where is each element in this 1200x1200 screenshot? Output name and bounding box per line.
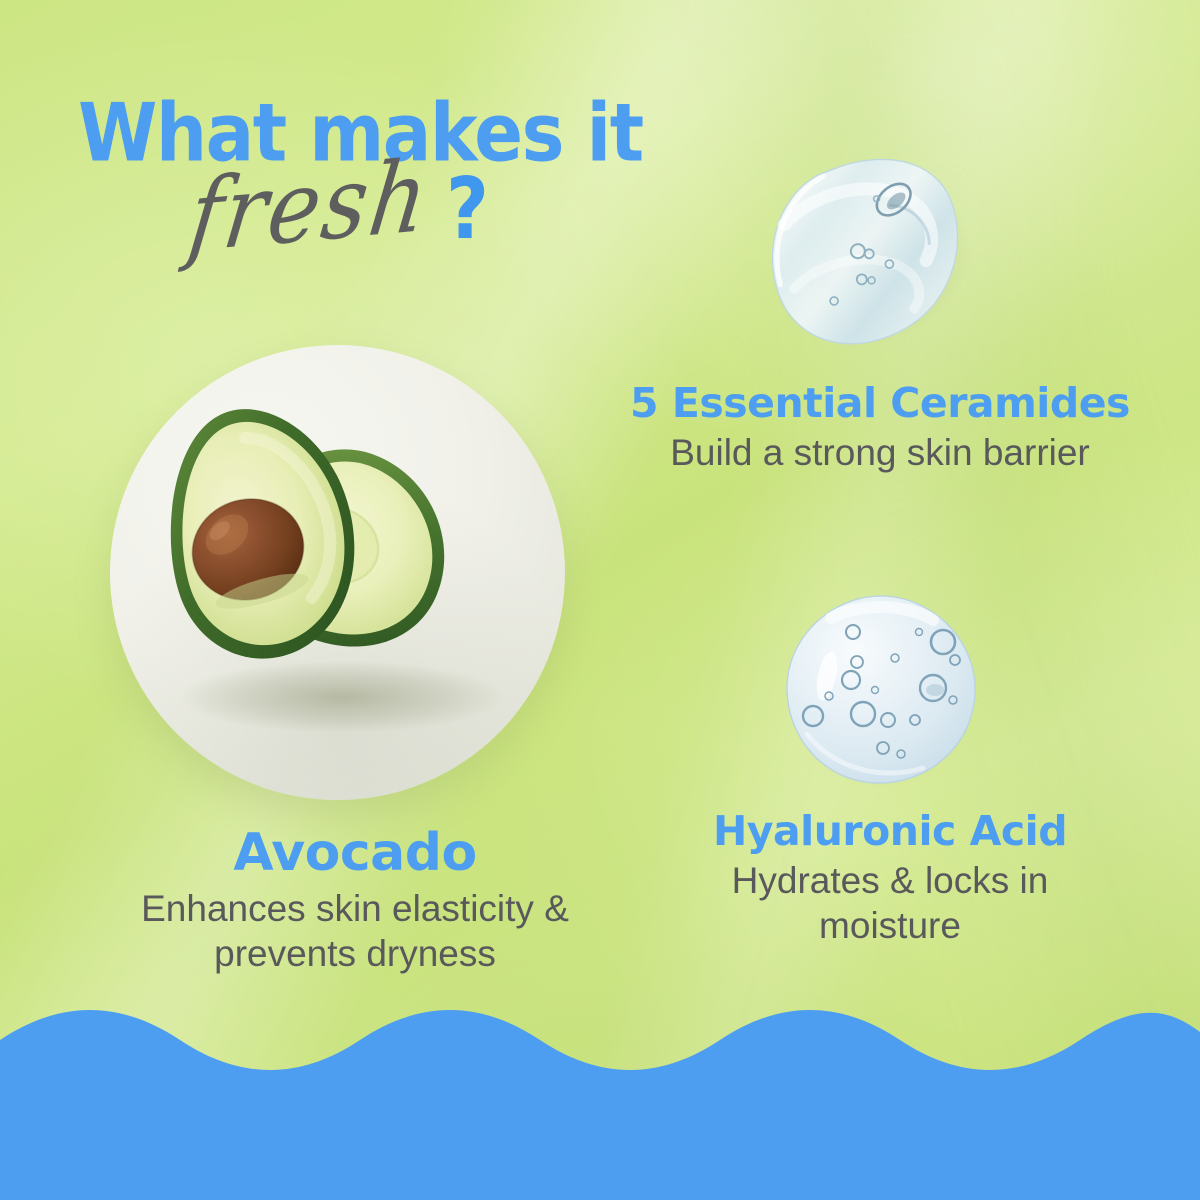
headline-script-row: fresh ? xyxy=(78,170,698,280)
hyaluronic-title: Hyaluronic Acid xyxy=(660,810,1120,853)
ingredient-block-hyaluronic: Hyaluronic Acid Hydrates & locks in mois… xyxy=(660,810,1120,948)
ingredient-block-avocado: Avocado Enhances skin elasticity & preve… xyxy=(55,826,655,976)
avocado-illustration xyxy=(110,345,565,800)
ceramide-gel-blob xyxy=(752,152,984,348)
headline-question-mark: ? xyxy=(446,160,489,259)
headline: What makes it fresh ? xyxy=(78,92,698,280)
ceramides-subtitle: Build a strong skin barrier xyxy=(590,431,1170,475)
avocado-title: Avocado xyxy=(55,826,655,881)
hyaluronic-subtitle-line-1: Hydrates & locks in xyxy=(660,859,1120,903)
ceramides-title: 5 Essential Ceramides xyxy=(590,382,1170,425)
bottom-wave-decoration xyxy=(0,1000,1200,1200)
headline-script-word: fresh xyxy=(183,138,436,274)
avocado-circle-backdrop xyxy=(110,345,565,800)
wave-layer-front xyxy=(0,1010,1200,1200)
promo-poster: What makes it fresh ? xyxy=(0,0,1200,1200)
hyaluronic-subtitle-line-2: moisture xyxy=(660,904,1120,948)
avocado-subtitle-line-1: Enhances skin elasticity & xyxy=(55,887,655,931)
hyaluronic-gel-droplet xyxy=(783,592,979,788)
avocado-subtitle-line-2: prevents dryness xyxy=(55,932,655,976)
ingredient-block-ceramides: 5 Essential Ceramides Build a strong ski… xyxy=(590,382,1170,476)
